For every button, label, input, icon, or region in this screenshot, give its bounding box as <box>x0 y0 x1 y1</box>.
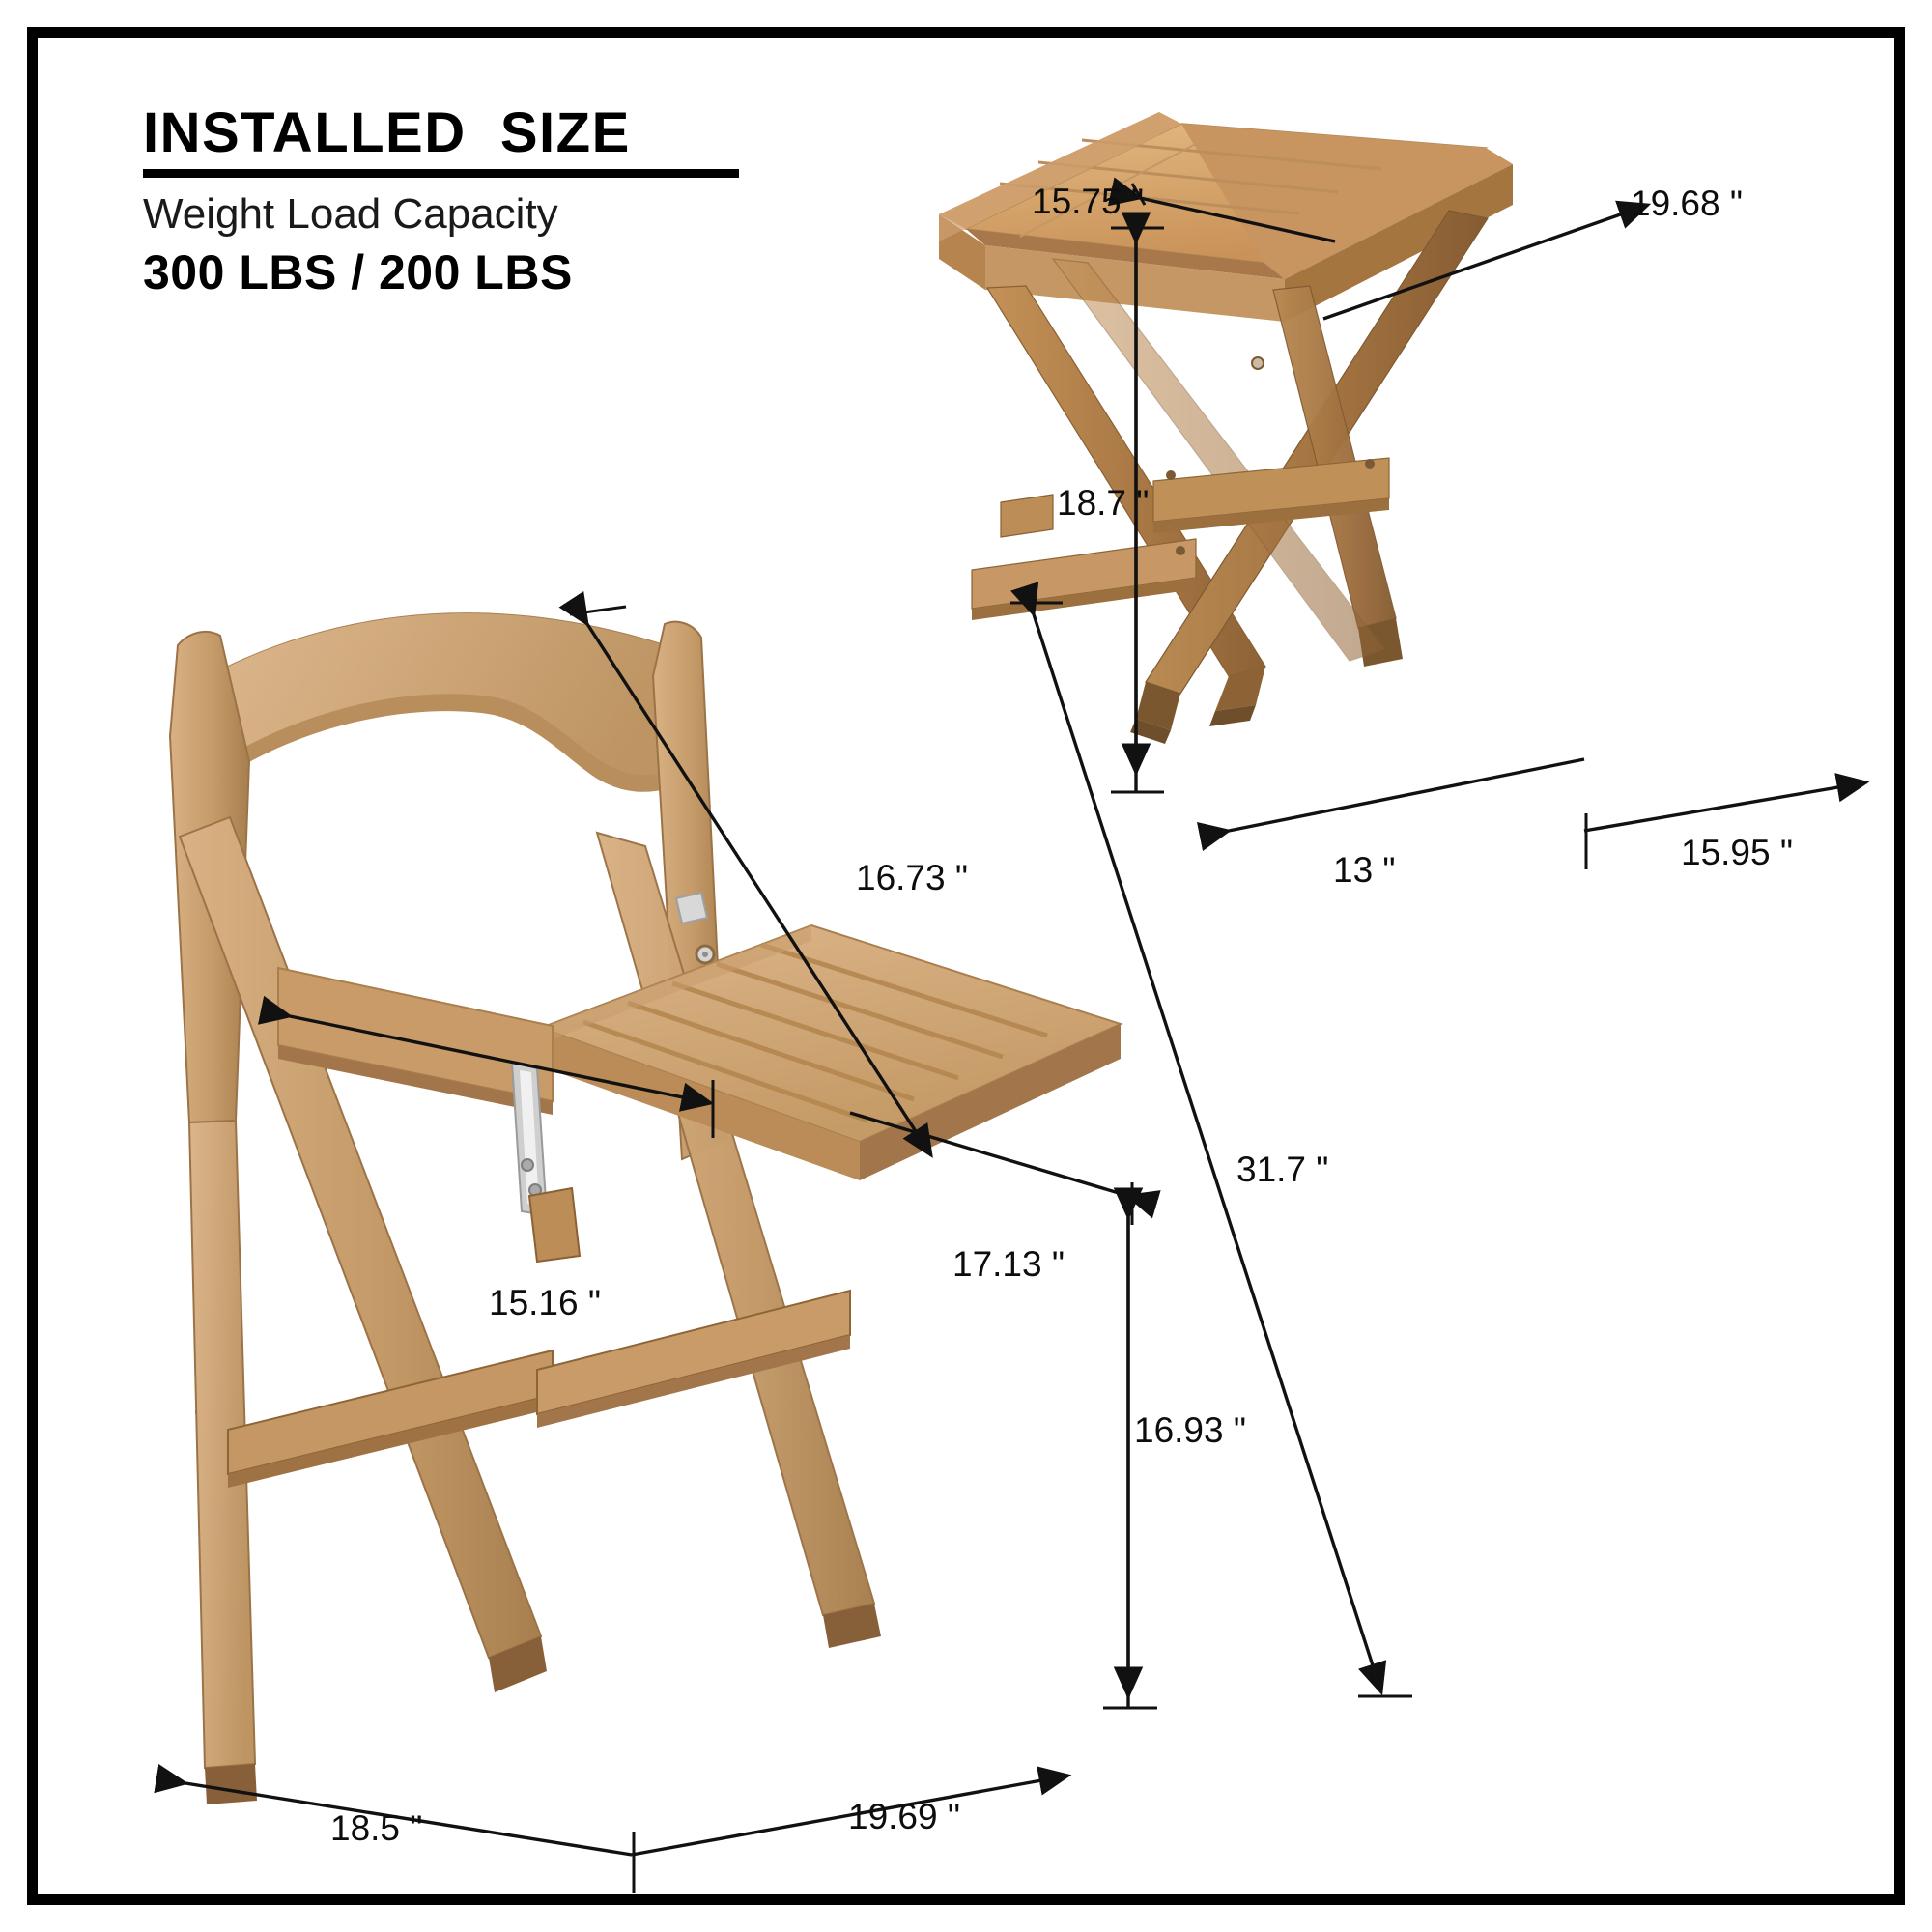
dim-label-table-height: 18.7 " <box>1057 483 1149 524</box>
weight-load-capacity-value: 300 LBS / 200 LBS <box>143 247 935 298</box>
dim-label-table-base-width: 13 " <box>1333 850 1396 891</box>
dim-label-table-top-width: 15.75 " <box>1032 182 1144 222</box>
dim-label-chair-base-width: 18.5 " <box>330 1808 422 1849</box>
dim-label-chair-back-height: 16.73 " <box>856 858 968 898</box>
spec-sheet-page: INSTALLED SIZE Weight Load Capacity 300 … <box>0 0 1932 1932</box>
weight-load-capacity-label: Weight Load Capacity <box>143 191 935 238</box>
dim-label-chair-base-depth: 19.69 " <box>848 1797 960 1837</box>
dim-label-chair-seat-width: 15.16 " <box>489 1283 601 1323</box>
dim-label-chair-total-height: 31.7 " <box>1236 1150 1328 1190</box>
page-title: INSTALLED SIZE <box>143 104 935 161</box>
dim-label-table-base-depth: 15.95 " <box>1681 833 1793 873</box>
page-border-frame <box>27 27 1905 1905</box>
dim-label-chair-seat-depth: 17.13 " <box>952 1244 1065 1285</box>
title-underline <box>143 169 739 178</box>
header-block: INSTALLED SIZE Weight Load Capacity 300 … <box>143 104 935 298</box>
dim-label-chair-seat-height: 16.93 " <box>1134 1410 1246 1451</box>
dim-label-table-top-depth: 19.68 " <box>1631 184 1743 224</box>
